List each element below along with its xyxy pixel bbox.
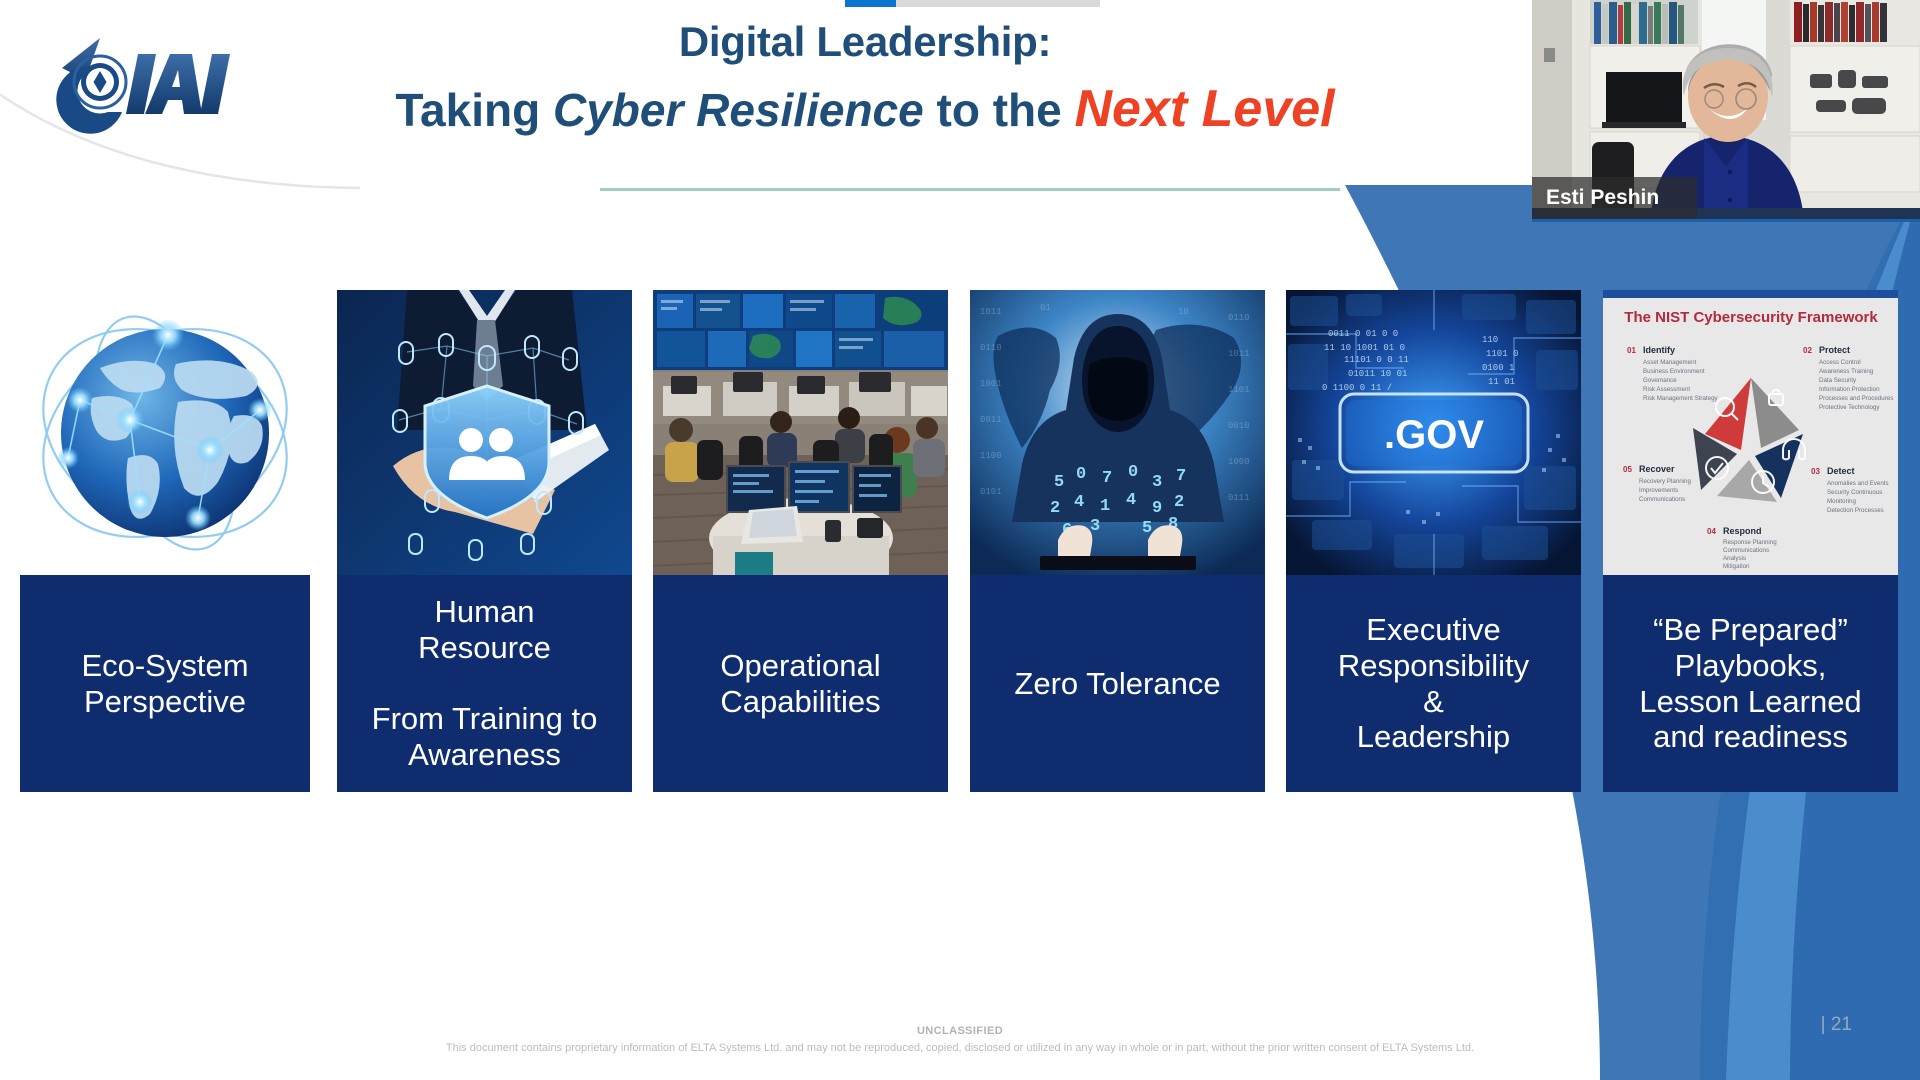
card-label: Operational Capabilities [653,575,948,792]
iai-logo [42,30,272,140]
nist-framework-image: The NIST Cybersecurity Framework [1603,290,1898,575]
svg-text:Risk Management Strategy: Risk Management Strategy [1643,395,1719,402]
content-card-row: Eco-System Perspective [0,290,1920,800]
connected-globe-image [20,290,310,575]
svg-text:9: 9 [1152,499,1162,518]
presentation-progress-bar[interactable] [845,0,1100,7]
svg-text:Protect: Protect [1819,345,1850,355]
svg-text:1101: 1101 [1228,385,1250,395]
svg-text:Information Protection: Information Protection [1819,386,1880,393]
svg-text:01011 10 01: 01011 10 01 [1348,369,1407,379]
svg-text:11 10 1001 01 0: 11 10 1001 01 0 [1324,343,1405,353]
classification-label: UNCLASSIFIED [0,1025,1920,1037]
svg-text:Detection Processes: Detection Processes [1827,507,1884,514]
svg-text:0010: 0010 [1228,421,1250,431]
slide-title: Digital Leadership: Taking Cyber Resilie… [360,18,1370,140]
svg-text:Governance: Governance [1643,377,1677,384]
svg-text:Access Control: Access Control [1819,359,1861,366]
svg-text:0110: 0110 [1228,313,1250,323]
title-line2-accent: Next Level [1074,80,1334,138]
svg-text:110: 110 [1482,335,1498,345]
svg-text:2: 2 [1174,493,1184,512]
title-line2-emphasis: Cyber Resilience [553,84,924,136]
svg-text:0011: 0011 [980,415,1002,425]
svg-text:Business Environment: Business Environment [1643,368,1705,375]
svg-text:01: 01 [1040,303,1051,313]
svg-text:Awareness Training: Awareness Training [1819,368,1874,375]
svg-text:4: 4 [1074,493,1084,512]
svg-text:Mitigation: Mitigation [1723,563,1750,570]
svg-text:0: 0 [1076,465,1086,484]
progress-fill [845,0,896,7]
svg-text:3: 3 [1152,473,1162,492]
svg-text:2: 2 [1050,499,1060,518]
card-label: Human Resource From Training to Awarenes… [337,575,632,792]
hr-shield-network-image [337,290,632,575]
nist-title: The NIST Cybersecurity Framework [1624,309,1878,326]
svg-text:11 01: 11 01 [1488,377,1515,387]
card-label: Zero Tolerance [970,575,1265,792]
svg-text:Communications: Communications [1639,496,1685,503]
svg-text:01: 01 [1627,346,1636,355]
slide-footer: UNCLASSIFIED This document contains prop… [0,1025,1920,1054]
svg-text:0100 1: 0100 1 [1482,363,1514,373]
svg-text:1: 1 [1100,497,1110,516]
svg-text:Processes and Procedures: Processes and Procedures [1819,395,1893,402]
svg-text:Communications: Communications [1723,547,1769,554]
speaker-name: Esti Peshin [1546,186,1659,210]
svg-text:04: 04 [1707,527,1716,536]
title-line-2: Taking Cyber Resilience to the Next Leve… [360,80,1370,140]
card-label: “Be Prepared” Playbooks, Lesson Learned … [1603,575,1898,792]
page-number: | 21 [1821,1014,1852,1036]
svg-text:1100: 1100 [980,451,1002,461]
svg-text:Anomalies and Events: Anomalies and Events [1827,480,1889,487]
svg-text:7: 7 [1102,469,1112,488]
svg-text:Risk Assessment: Risk Assessment [1643,386,1690,393]
svg-text:0111: 0111 [1228,493,1250,503]
svg-text:Identify: Identify [1643,345,1675,355]
svg-text:11101 0 0 11: 11101 0 0 11 [1344,355,1409,365]
svg-text:Respond: Respond [1723,526,1762,536]
card-label: Eco-System Perspective [20,575,310,792]
title-line2-mid: to the [924,84,1075,136]
svg-text:Analysis: Analysis [1723,555,1746,562]
svg-text:5: 5 [1054,473,1064,492]
svg-text:0: 0 [1128,463,1138,482]
dot-gov-label: .GOV [1384,413,1484,457]
dot-gov-circuit-image: 0011 0 01 0 0 11 10 1001 01 0 11101 0 0 … [1286,290,1581,575]
svg-text:03: 03 [1811,467,1820,476]
svg-text:05: 05 [1623,465,1632,474]
svg-text:0 1100 0 11 /: 0 1100 0 11 / [1322,383,1392,393]
svg-text:Protective Technology: Protective Technology [1819,404,1880,411]
svg-text:Recovery Planning: Recovery Planning [1639,478,1691,485]
svg-text:Monitoring: Monitoring [1827,498,1856,505]
webcam-panel[interactable]: Esti Peshin [1532,0,1920,222]
svg-text:3: 3 [1090,517,1100,536]
svg-text:Data Security: Data Security [1819,377,1857,384]
svg-text:Detect: Detect [1827,466,1855,476]
svg-text:1101 0: 1101 0 [1486,349,1518,359]
title-line2-lead: Taking [395,84,553,136]
card-label: Executive Responsibility & Leadership [1286,575,1581,792]
slide-stage: Digital Leadership: Taking Cyber Resilie… [0,0,1920,1080]
hooded-hacker-image: 101101101001 001111000101 011010111101 0… [970,290,1265,575]
svg-text:1011: 1011 [980,307,1002,317]
security-operations-center-image [653,290,948,575]
title-line-1: Digital Leadership: [360,18,1370,66]
speaker-name-badge: Esti Peshin [1532,177,1697,219]
title-divider-rule [600,188,1340,191]
svg-text:4: 4 [1126,491,1136,510]
svg-text:0101: 0101 [980,487,1002,497]
svg-text:Improvements: Improvements [1639,487,1678,494]
svg-text:1000: 1000 [1228,457,1250,467]
svg-text:1011: 1011 [1228,349,1250,359]
svg-text:Recover: Recover [1639,464,1675,474]
svg-text:Asset Management: Asset Management [1643,359,1697,366]
svg-text:1001: 1001 [980,379,1002,389]
svg-text:7: 7 [1176,467,1186,486]
svg-text:0011 0 01 0 0: 0011 0 01 0 0 [1328,329,1398,339]
svg-text:0110: 0110 [980,343,1002,353]
svg-text:Response Planning: Response Planning [1723,539,1777,546]
svg-text:10: 10 [1178,307,1189,317]
svg-text:Security Continuous: Security Continuous [1827,489,1882,496]
svg-text:02: 02 [1803,346,1812,355]
proprietary-notice: This document contains proprietary infor… [0,1042,1920,1054]
